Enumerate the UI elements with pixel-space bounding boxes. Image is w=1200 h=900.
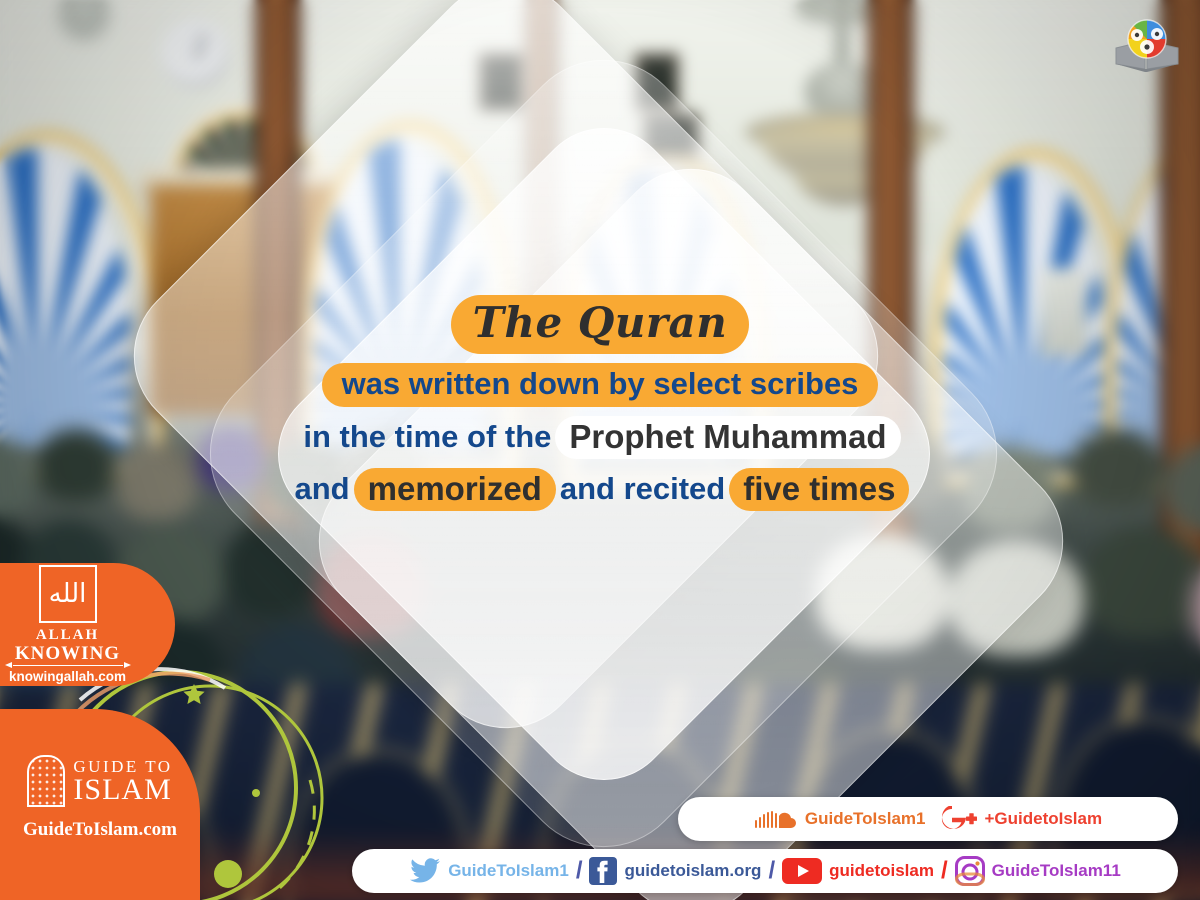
social-item-soundcloud[interactable]: GuideToIslam1 <box>754 807 926 831</box>
poster-canvas: The Quran was written down by select scr… <box>0 0 1200 900</box>
social-separator-1: / <box>576 857 583 885</box>
quote-line-3: in the time of theProphet Muhammad <box>230 416 970 459</box>
allah-calligraphy-text: الله <box>49 581 87 607</box>
badge-gi-word1: GUIDE TO <box>73 758 172 775</box>
social-item-facebook[interactable]: guidetoislam.org / <box>589 857 775 885</box>
badge-gi-word2: ISLAM <box>73 775 172 805</box>
social-label-twitter[interactable]: GuideToIslam1 <box>448 861 569 881</box>
quote-line-2: was written down by select scribes <box>230 363 970 407</box>
quote-line4-c: and recited <box>556 469 729 510</box>
quote-title-pill: The Quran <box>451 295 750 354</box>
quote-line-4: andmemorizedand recitedfive times <box>230 468 970 511</box>
quote-line4-memorized: memorized <box>354 468 556 511</box>
social-bar-bottom: GuideToIslam1 / guidetoislam.org / guide… <box>352 849 1178 893</box>
soundcloud-icon[interactable] <box>754 807 798 831</box>
badge-gi-url[interactable]: GuideToIslam.com <box>10 819 190 841</box>
social-item-instagram[interactable]: GuideToIslam11 <box>955 856 1121 886</box>
quote-block: The Quran was written down by select scr… <box>230 295 970 520</box>
social-separator-2: / <box>768 857 775 885</box>
google-plus-icon[interactable] <box>939 806 977 832</box>
badge-ka-url[interactable]: knowingallah.com <box>9 669 126 684</box>
social-label-facebook[interactable]: guidetoislam.org <box>624 861 761 881</box>
social-item-youtube[interactable]: guidetoislam / <box>782 857 948 885</box>
social-item-twitter[interactable]: GuideToIslam1 / <box>409 857 582 885</box>
guide-to-islam-globe-book-logo[interactable] <box>1114 14 1180 74</box>
social-label-soundcloud[interactable]: GuideToIslam1 <box>805 809 926 829</box>
quote-line4-five-times: five times <box>729 468 909 511</box>
social-bar-top: GuideToIslam1 +GuidetoIslam <box>678 797 1178 841</box>
mosque-arch-icon <box>27 755 65 807</box>
quote-line2-pill: was written down by select scribes <box>322 363 879 407</box>
twitter-icon[interactable] <box>409 857 441 885</box>
quote-line3-highlight: Prophet Muhammad <box>555 416 900 459</box>
allah-calligraphy-box: الله <box>39 565 97 623</box>
badge-knowing-allah[interactable]: الله ALLAH KNOWING knowingallah.com <box>0 563 175 686</box>
social-item-googleplus[interactable]: +GuidetoIslam <box>939 806 1102 832</box>
quote-line-1: The Quran <box>230 295 970 354</box>
social-separator-3: / <box>941 857 948 885</box>
social-label-youtube[interactable]: guidetoislam <box>829 861 934 881</box>
facebook-icon[interactable] <box>589 857 617 885</box>
social-label-instagram[interactable]: GuideToIslam11 <box>992 861 1121 881</box>
badge-ka-word1: ALLAH <box>36 627 99 644</box>
youtube-icon[interactable] <box>782 857 822 885</box>
quote-line4-a: and <box>291 469 354 510</box>
badge-ka-word2: KNOWING <box>15 644 120 663</box>
quote-line3-plain: in the time of the <box>299 417 555 458</box>
badge-ka-divider <box>13 665 123 666</box>
social-label-googleplus[interactable]: +GuidetoIslam <box>984 809 1102 829</box>
instagram-icon[interactable] <box>955 856 985 886</box>
